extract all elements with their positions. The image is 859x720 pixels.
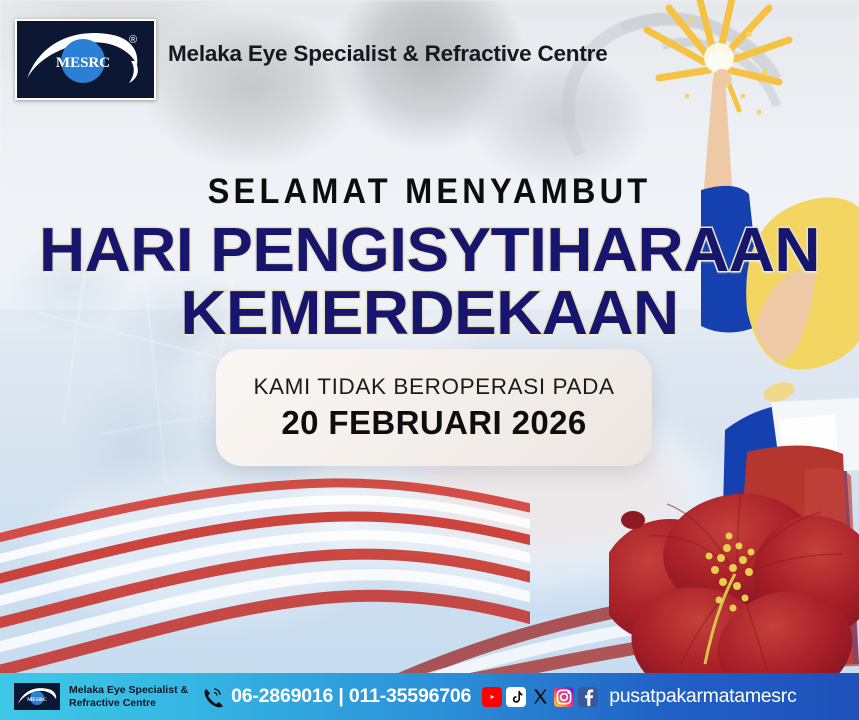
footer-social-links <box>482 687 598 707</box>
headline-line-1: HARI PENGISYTIHARAAN <box>0 222 859 281</box>
kicker-text: SELAMAT MENYAMBUT <box>30 172 829 212</box>
phone-icon <box>202 686 224 708</box>
mesrc-logo: MESRC ® <box>15 19 156 100</box>
footer-clinic-name-line1: Melaka Eye Specialist & <box>69 684 188 696</box>
registered-mark-icon: ® <box>129 34 137 46</box>
headline-line-2: KEMERDEKAAN <box>0 285 859 344</box>
closure-date: 20 FEBRUARI 2026 <box>281 404 586 442</box>
footer-clinic-name: Melaka Eye Specialist & Refractive Centr… <box>69 684 188 709</box>
footer-contact-bar: MESRC Melaka Eye Specialist & Refractive… <box>0 673 859 720</box>
closure-notice-text: KAMI TIDAK BEROPERASI PADA <box>253 374 614 400</box>
facebook-icon[interactable] <box>578 687 598 707</box>
hibiscus-flower-graphic <box>609 448 859 678</box>
footer-logo-text: MESRC <box>27 697 47 703</box>
closure-notice-card: KAMI TIDAK BEROPERASI PADA 20 FEBRUARI 2… <box>216 349 652 466</box>
footer-clinic-name-line2: Refractive Centre <box>69 697 188 709</box>
header-bar: MESRC ® Melaka Eye Specialist & Refracti… <box>0 0 859 110</box>
footer-social-handle[interactable]: pusatpakarmatamesrc <box>609 685 796 708</box>
instagram-icon[interactable] <box>554 687 574 707</box>
page-title: Melaka Eye Specialist & Refractive Centr… <box>168 41 608 67</box>
footer-phone-number[interactable]: 06-2869016 | 011-35596706 <box>231 685 471 708</box>
x-icon[interactable] <box>530 687 550 707</box>
footer-mesrc-logo: MESRC <box>14 683 60 710</box>
poster-canvas: MESRC ® Melaka Eye Specialist & Refracti… <box>0 0 859 720</box>
youtube-icon[interactable] <box>482 687 502 707</box>
flower-bud <box>621 511 645 529</box>
logo-text: MESRC <box>56 55 110 71</box>
tiktok-icon[interactable] <box>506 687 526 707</box>
